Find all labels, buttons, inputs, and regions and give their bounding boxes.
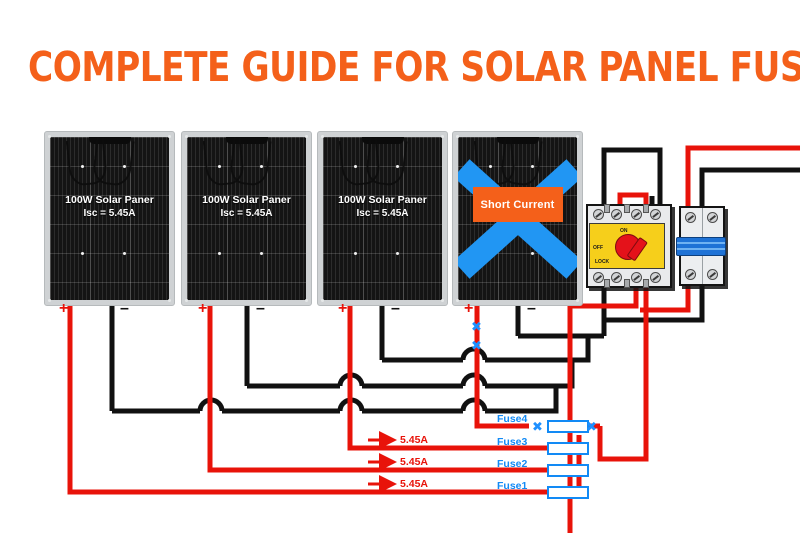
panel-1-dot — [81, 252, 84, 255]
switch-screw-icon — [611, 209, 622, 220]
wire-hop-5 — [463, 375, 485, 386]
current-label-fuse2: 5.45A — [400, 456, 428, 468]
fuse-1-label: Fuse1 — [497, 480, 527, 492]
fuse-1[interactable] — [547, 486, 589, 499]
positive-breaker-output — [688, 148, 800, 206]
short-current-badge: Short Current — [473, 187, 563, 222]
panel-4-break-marker-icon: ✖ — [471, 320, 482, 333]
fuse-2[interactable] — [547, 464, 589, 477]
panel-4-cells: Short Current — [458, 137, 577, 300]
switch-lug — [604, 204, 610, 213]
switch-lug — [604, 279, 610, 288]
panel-1-positive-terminal: + — [59, 301, 68, 317]
panel-4-dot — [531, 165, 534, 168]
panel-2-dot — [260, 252, 263, 255]
panel-4-cable-right-icon — [499, 137, 542, 187]
fuse-4-break-marker-icon: ✖ — [586, 420, 597, 433]
switch-position-lock: LOCK — [595, 259, 609, 265]
fuse-3-label: Fuse3 — [497, 436, 527, 448]
solar-panel-1[interactable]: 100W Solar Paner Isc = 5.45A — [44, 131, 175, 306]
dc-circuit-breaker[interactable] — [679, 206, 725, 286]
fuse-4-break-marker-icon: ✖ — [532, 420, 543, 433]
negative-bus-c-2 — [485, 336, 588, 360]
dc-disconnect-switch[interactable]: ON OFF LOCK — [586, 204, 672, 288]
panel-1-cable-right-icon — [91, 137, 134, 187]
panel-1-label: 100W Solar Paner Isc = 5.45A — [50, 193, 169, 221]
switch-screw-icon — [593, 272, 604, 283]
panel-1-isc: Isc = 5.45A — [50, 207, 169, 221]
panel-2-negative-terminal: – — [256, 301, 265, 317]
panel-2-positive-terminal: + — [198, 301, 207, 317]
panel-1-dot — [123, 252, 126, 255]
negative-bus-b-3 — [485, 360, 572, 386]
panel-2-dot — [218, 165, 221, 168]
panel-4-break-marker-icon: ✖ — [471, 339, 482, 352]
switch-screw-icon — [611, 272, 622, 283]
switch-screw-icon — [650, 272, 661, 283]
fuse-4-label: Fuse4 — [497, 413, 527, 425]
breaker-screw-icon — [685, 212, 696, 223]
panel-3-dot — [396, 252, 399, 255]
switch-screw-icon — [631, 272, 642, 283]
wire-hop-3 — [463, 400, 485, 411]
breaker-screw-icon — [707, 269, 718, 280]
panel-2-dot — [260, 165, 263, 168]
breaker-toggle-lever[interactable] — [676, 237, 726, 256]
fuse-4[interactable] — [547, 420, 589, 433]
solar-panel-3[interactable]: 100W Solar Paner Isc = 5.45A — [317, 131, 448, 306]
panel-4-dot — [489, 165, 492, 168]
switch-position-off: OFF — [593, 245, 603, 251]
negative-breaker-output — [702, 170, 800, 206]
switch-rotary-knob[interactable] — [615, 234, 641, 260]
switch-screw-icon — [650, 209, 661, 220]
panel-3-positive-terminal: + — [338, 301, 347, 317]
fuse-3[interactable] — [547, 442, 589, 455]
solar-panel-4[interactable]: Short Current — [452, 131, 583, 306]
panel-3-isc: Isc = 5.45A — [323, 207, 442, 221]
panel-2-cells: 100W Solar Paner Isc = 5.45A — [187, 137, 306, 300]
panel-2-name: 100W Solar Paner — [187, 193, 306, 207]
panel-3-negative-terminal: – — [391, 301, 400, 317]
switch-lug — [643, 204, 649, 213]
switch-knob-handle[interactable] — [627, 237, 648, 262]
panel-1-dot — [123, 165, 126, 168]
breaker-screw-icon — [707, 212, 718, 223]
panel-3-dot — [354, 252, 357, 255]
current-label-fuse1: 5.45A — [400, 478, 428, 490]
switch-screw-icon — [593, 209, 604, 220]
switch-lug — [643, 279, 649, 288]
panel-2-dot — [218, 252, 221, 255]
panel-3-cells: 100W Solar Paner Isc = 5.45A — [323, 137, 442, 300]
panel-3-label: 100W Solar Paner Isc = 5.45A — [323, 193, 442, 221]
current-label-fuse3: 5.45A — [400, 434, 428, 446]
panel-4-positive-terminal: + — [464, 301, 473, 317]
solar-fuse-diagram: COMPLETE GUIDE FOR SOLAR PANEL FUSE — [0, 0, 800, 533]
panel-2-isc: Isc = 5.45A — [187, 207, 306, 221]
switch-faceplate[interactable]: ON OFF LOCK — [589, 223, 665, 269]
panel-4-negative-terminal: – — [527, 301, 536, 317]
panel-1-cells: 100W Solar Paner Isc = 5.45A — [50, 137, 169, 300]
panel-2-cable-right-icon — [228, 137, 271, 187]
breaker-screw-icon — [685, 269, 696, 280]
switch-lug — [624, 279, 630, 288]
panel-3-cable-right-icon — [364, 137, 407, 187]
panel-1-name: 100W Solar Paner — [50, 193, 169, 207]
switch-lug — [624, 204, 630, 213]
panel-2-label: 100W Solar Paner Isc = 5.45A — [187, 193, 306, 221]
panel-3-dot — [354, 165, 357, 168]
panel-4-dot — [531, 252, 534, 255]
fuse-2-label: Fuse2 — [497, 458, 527, 470]
panel-1-dot — [81, 165, 84, 168]
switch-screw-icon — [631, 209, 642, 220]
panel-3-name: 100W Solar Paner — [323, 193, 442, 207]
panel-1-negative-terminal: – — [120, 301, 129, 317]
panel-3-dot — [396, 165, 399, 168]
solar-panel-2[interactable]: 100W Solar Paner Isc = 5.45A — [181, 131, 312, 306]
negative-bus-seg-4 — [485, 386, 556, 411]
